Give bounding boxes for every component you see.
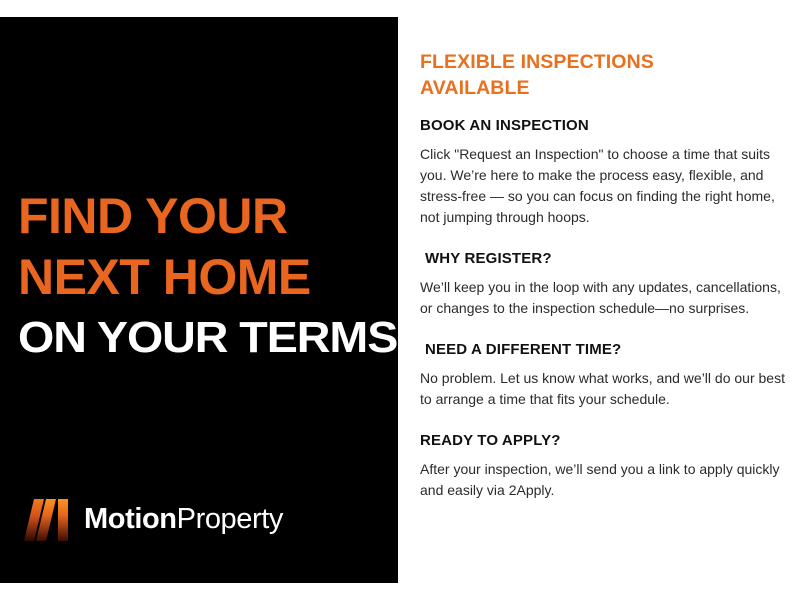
headline-line-3: ON YOUR TERMS	[18, 316, 398, 359]
inspection-info-poster: FIND YOUR NEXT HOME ON YOUR TERMS	[0, 0, 800, 600]
section-heading-why-register: WHY REGISTER?	[420, 250, 792, 268]
section-ready-to-apply: READY TO APPLY? After your inspection, w…	[420, 432, 792, 501]
hero-headline: FIND YOUR NEXT HOME ON YOUR TERMS	[18, 192, 398, 359]
hero-panel: FIND YOUR NEXT HOME ON YOUR TERMS	[0, 17, 398, 583]
section-need-a-different-time: NEED A DIFFERENT TIME? No problem. Let u…	[420, 341, 792, 410]
section-why-register: WHY REGISTER? We’ll keep you in the loop…	[420, 250, 792, 319]
brand-wordmark-strong: Motion	[84, 503, 177, 535]
headline-line-2: NEXT HOME	[18, 253, 398, 302]
section-heading-book-an-inspection: BOOK AN INSPECTION	[420, 117, 792, 135]
brand-wordmark-light: Property	[177, 503, 283, 535]
section-book-an-inspection: BOOK AN INSPECTION Click "Request an Ins…	[420, 117, 792, 228]
section-body-need-a-different-time: No problem. Let us know what works, and …	[420, 368, 792, 410]
section-body-why-register: We’ll keep you in the loop with any upda…	[420, 277, 792, 319]
section-body-ready-to-apply: After your inspection, we’ll send you a …	[420, 459, 792, 501]
page-title: FLEXIBLE INSPECTIONS AVAILABLE	[420, 50, 690, 101]
brand-logo: MotionProperty	[22, 493, 283, 545]
motion-property-m-logo-icon	[22, 493, 74, 545]
section-heading-ready-to-apply: READY TO APPLY?	[420, 432, 792, 450]
section-body-book-an-inspection: Click "Request an Inspection" to choose …	[420, 144, 792, 228]
section-heading-need-a-different-time: NEED A DIFFERENT TIME?	[420, 341, 792, 359]
brand-wordmark: MotionProperty	[84, 505, 283, 534]
headline-line-1: FIND YOUR	[18, 192, 398, 241]
info-content-panel: FLEXIBLE INSPECTIONS AVAILABLE BOOK AN I…	[420, 50, 792, 514]
